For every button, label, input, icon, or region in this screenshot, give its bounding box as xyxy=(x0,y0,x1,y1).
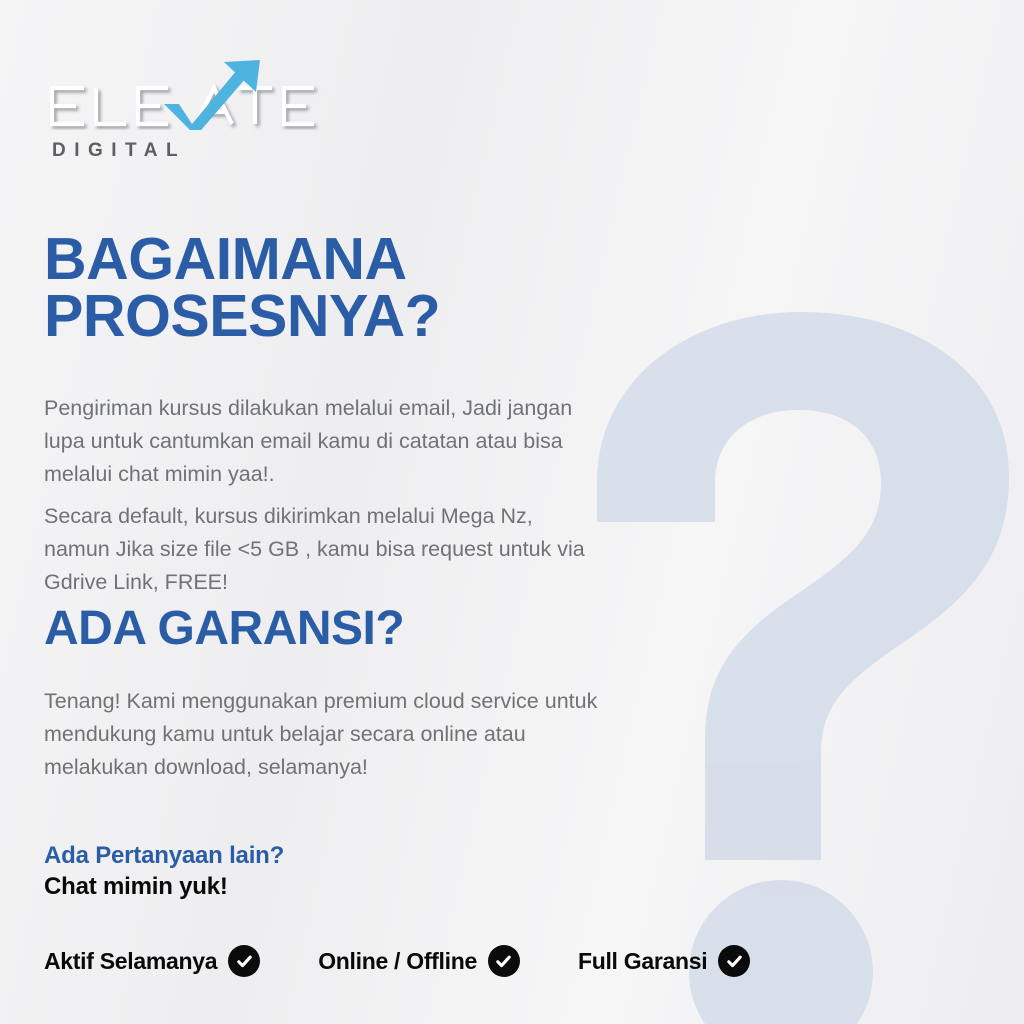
badge-full-garansi: Full Garansi xyxy=(578,945,750,977)
badge-label: Aktif Selamanya xyxy=(44,948,217,975)
brand-subtitle: DIGITAL xyxy=(52,140,336,162)
section-heading-bagaimana-prosesnya: BAGAIMANA PROSESNYA? xyxy=(44,231,684,345)
badge-aktif-selamanya: Aktif Selamanya xyxy=(44,945,260,977)
feature-badge-row: Aktif Selamanya Online / Offline Full Ga… xyxy=(44,945,944,977)
brand-wordmark xyxy=(46,58,336,130)
check-circle-icon xyxy=(488,945,520,977)
badge-label: Online / Offline xyxy=(318,948,477,975)
section-heading-ada-garansi: ADA GARANSI? xyxy=(44,606,684,653)
section-paragraph-pengiriman: Pengiriman kursus dilakukan melalui emai… xyxy=(44,392,604,491)
check-circle-icon xyxy=(228,945,260,977)
brand-logo: DIGITAL xyxy=(46,58,336,162)
cta-block: Ada Pertanyaan lain? Chat mimin yuk! xyxy=(44,841,284,903)
section-paragraph-secara-default: Secara default, kursus dikirimkan melalu… xyxy=(44,500,604,599)
section-paragraph-tenang: Tenang! Kami menggunakan premium cloud s… xyxy=(44,685,604,784)
badge-online-offline: Online / Offline xyxy=(318,945,520,977)
badge-label: Full Garansi xyxy=(578,948,707,975)
elevate-wordmark-svg xyxy=(46,58,336,130)
cta-action[interactable]: Chat mimin yuk! xyxy=(44,871,284,903)
faq-poster: DIGITAL BAGAIMANA PROSESNYA? Pengiriman … xyxy=(0,0,1024,1024)
check-circle-icon xyxy=(718,945,750,977)
poster-content: DIGITAL BAGAIMANA PROSESNYA? Pengiriman … xyxy=(0,0,1024,1024)
cta-question: Ada Pertanyaan lain? xyxy=(44,841,284,871)
